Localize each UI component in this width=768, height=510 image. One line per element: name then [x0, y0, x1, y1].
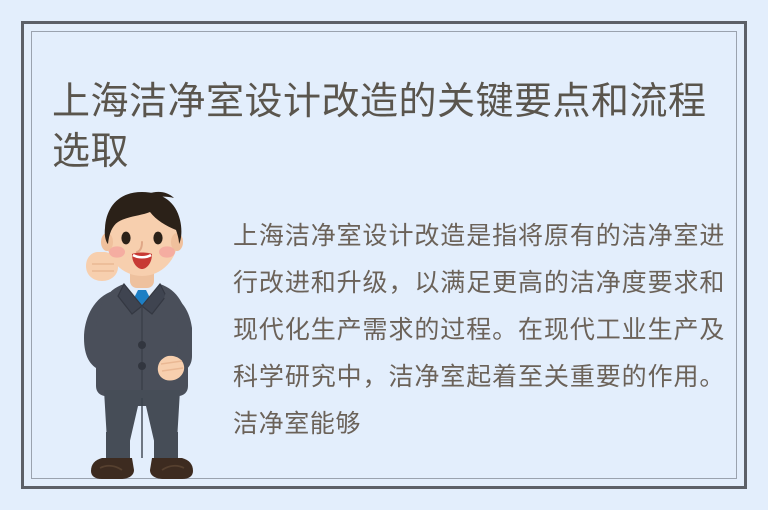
businessman-cheering-illustration: [62, 180, 222, 485]
article-body-text: 上海洁净室设计改造是指将原有的洁净室进行改进和升级，以满足更高的洁净度要求和现代…: [233, 213, 725, 448]
article-content-row: 上海洁净室设计改造是指将原有的洁净室进行改进和升级，以满足更高的洁净度要求和现代…: [32, 172, 736, 478]
article-card-inner-frame: 上海洁净室设计改造的关键要点和流程选取: [31, 31, 737, 479]
page-title: 上海洁净室设计改造的关键要点和流程选取: [52, 77, 712, 177]
article-card: 上海洁净室设计改造的关键要点和流程选取: [21, 21, 747, 489]
